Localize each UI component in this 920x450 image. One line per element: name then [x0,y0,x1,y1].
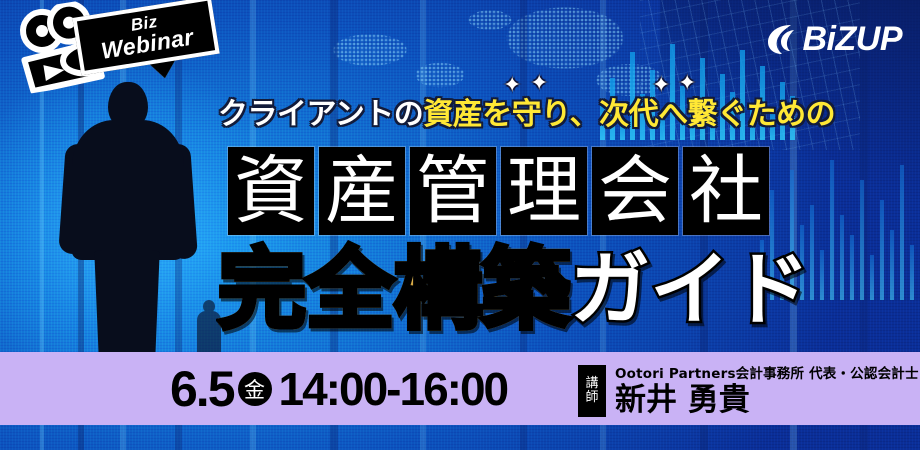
speaker-block: 講 師 Ootori Partners会計事務所 代表・公認会計士・税理士 新井… [578,362,920,417]
title-char-box: 資 [228,147,314,235]
title-char-box: 会 [592,147,678,235]
bizup-logo: BiZUP [766,22,903,56]
title-line-1: 資産管理会社 [228,147,769,235]
webinar-banner: Biz Webinar BiZUP ✦ ✦ ✦ ✦ クライアントの資産を守り、次… [0,0,920,450]
businessman-silhouette [62,82,192,360]
bizup-leaf-mark-icon [766,22,798,56]
speaker-label-badge: 講 師 [578,365,606,417]
silhouette-body [72,120,184,260]
speaker-label-char-2: 師 [585,391,598,405]
title-gold-text: 完全構築 [218,246,570,334]
schedule-block: 6.5 金 14:00-16:00 [170,364,507,414]
event-date: 6.5 [170,364,234,414]
title-char-box: 産 [319,147,405,235]
subhead: クライアントの資産を守り、次代へ繋ぐための [218,90,818,132]
title-char-box: 管 [410,147,496,235]
speaker-name: 新井 勇貴 [615,384,920,417]
event-time: 14:00-16:00 [279,366,508,412]
title-char-box: 理 [501,147,587,235]
badge-line2: Webinar [100,26,196,63]
title-char-box: 社 [683,147,769,235]
speaker-affiliation: Ootori Partners会計事務所 代表・公認会計士・税理士 [615,362,920,382]
subhead-yellow-text: 資産を守り、次代へ繋ぐための [423,89,835,133]
speaker-label-char-1: 講 [585,377,598,391]
silhouette-legs [88,250,166,362]
title-white-text: ガイド [570,250,810,330]
weekday-badge: 金 [238,372,272,406]
logo-text: BiZUP [803,22,903,56]
subhead-white-text: クライアントの [218,89,423,133]
title-line-2: 完全構築ガイド [218,242,810,338]
